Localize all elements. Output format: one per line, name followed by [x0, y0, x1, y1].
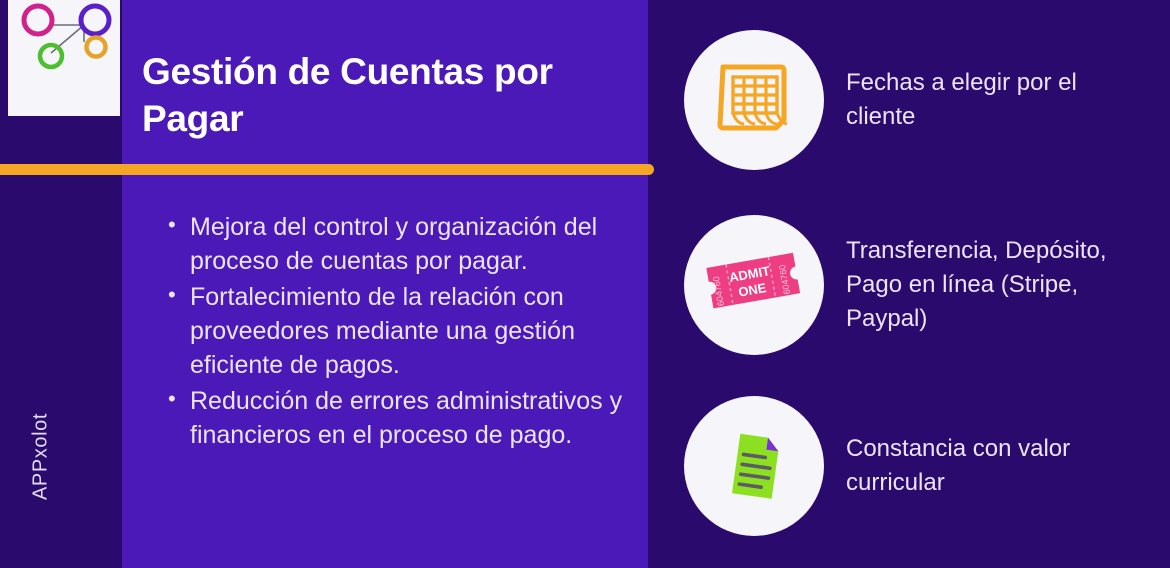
- page-title: Gestión de Cuentas por Pagar: [142, 48, 632, 143]
- list-item: Fortalecimiento de la relación con prove…: [168, 280, 638, 382]
- feature-icon-badge: ADMIT ONE 604760 604760: [684, 215, 824, 355]
- feature-row-dates: Fechas a elegir por el cliente: [684, 30, 1154, 170]
- feature-label: Fechas a elegir por el cliente: [846, 66, 1146, 134]
- feature-row-payments: ADMIT ONE 604760 604760 Transferencia, D…: [684, 215, 1154, 355]
- brand-name-vertical: APPxolot: [30, 397, 53, 517]
- brand-logo-card: [8, 0, 120, 116]
- slide-canvas: Gestión de Cuentas por Pagar Mejora del …: [0, 0, 1170, 568]
- feature-label: Transferencia, Depósito, Pago en línea (…: [846, 234, 1146, 336]
- feature-row-certificate: Constancia con valor curricular: [684, 396, 1154, 536]
- feature-icon-badge: [684, 396, 824, 536]
- calendar-icon: [711, 57, 797, 143]
- document-icon: [710, 422, 798, 510]
- accent-divider-bar: [0, 164, 654, 175]
- admit-one-ticket-icon: ADMIT ONE 604760 604760: [700, 242, 808, 328]
- feature-icon-badge: [684, 30, 824, 170]
- benefits-list: Mejora del control y organización del pr…: [168, 210, 638, 454]
- list-item: Reducción de errores administrativos y f…: [168, 384, 638, 452]
- feature-label: Constancia con valor curricular: [846, 432, 1146, 500]
- list-item: Mejora del control y organización del pr…: [168, 210, 638, 278]
- network-nodes-logo: [8, 0, 120, 116]
